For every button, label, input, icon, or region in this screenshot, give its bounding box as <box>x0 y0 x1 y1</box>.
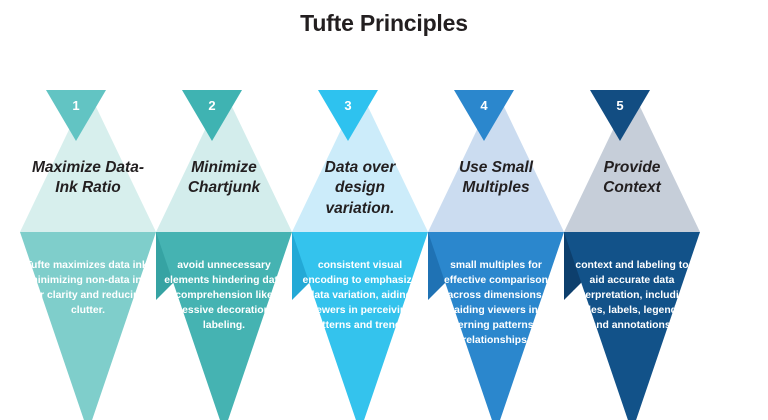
principle-description-3: consistent visual encoding to emphasize … <box>297 258 423 333</box>
principle-description-4: small multiples for effective comparison… <box>433 258 559 348</box>
principle-column-2[interactable]: 2Minimize Chartjunkavoid unnecessary ele… <box>156 0 292 420</box>
badge-number-4: 4 <box>416 98 552 113</box>
principle-column-4[interactable]: 4Use Small Multiplessmall multiples for … <box>428 0 564 420</box>
principle-title-3: Data over design variation. <box>301 158 419 219</box>
principle-description-2: avoid unnecessary elements hindering dat… <box>161 258 287 333</box>
principle-description-1: Tufte maximizes data ink, minimizing non… <box>25 258 151 318</box>
infographic-canvas: Tufte Principles 1Maximize Data-Ink Rati… <box>0 0 768 420</box>
principle-title-4: Use Small Multiples <box>437 158 555 199</box>
principle-column-3[interactable]: 3Data over design variation.consistent v… <box>292 0 428 420</box>
badge-number-1: 1 <box>8 98 144 113</box>
principle-description-5: context and labeling to aid accurate dat… <box>569 258 695 333</box>
badge-number-5: 5 <box>552 98 688 113</box>
principle-column-5[interactable]: 5Provide Contextcontext and labeling to … <box>564 0 700 420</box>
principle-title-2: Minimize Chartjunk <box>165 158 283 199</box>
badge-number-3: 3 <box>280 98 416 113</box>
principle-title-5: Provide Context <box>573 158 691 199</box>
principle-column-1[interactable]: 1Maximize Data-Ink RatioTufte maximizes … <box>20 0 156 420</box>
badge-number-2: 2 <box>144 98 280 113</box>
principle-title-1: Maximize Data-Ink Ratio <box>29 158 147 199</box>
